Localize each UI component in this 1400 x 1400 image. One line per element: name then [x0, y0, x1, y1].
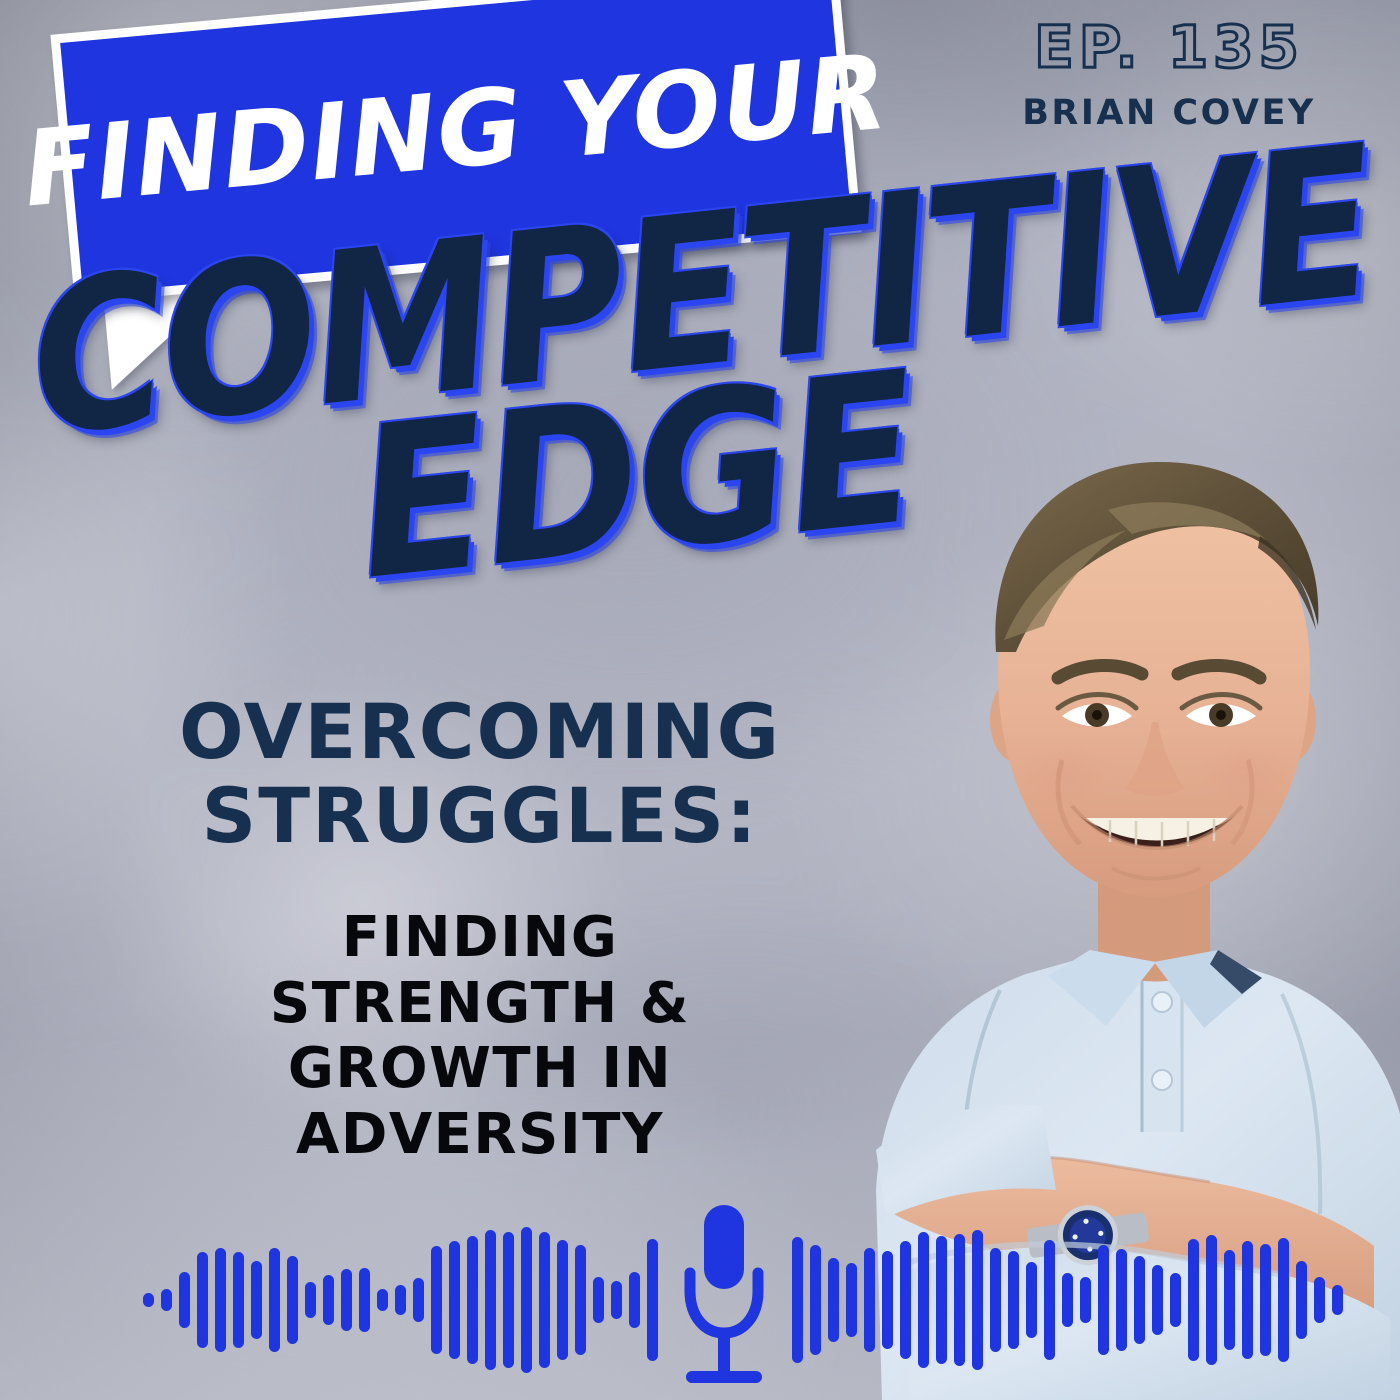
waveform-bar [395, 1285, 406, 1315]
microphone-icon [676, 1203, 772, 1389]
waveform-bar [611, 1281, 622, 1319]
waveform-bar [233, 1252, 244, 1348]
audio-waveform-right [792, 1200, 1352, 1400]
waveform-bar [341, 1269, 352, 1331]
waveform-bar [900, 1241, 911, 1359]
episode-subtitle-line1: FINDING [150, 905, 810, 971]
waveform-bar [1026, 1262, 1037, 1338]
waveform-bar [287, 1256, 298, 1344]
host-name-label: BRIAN COVEY [1004, 96, 1334, 131]
waveform-bar [1206, 1235, 1217, 1365]
waveform-bar [575, 1245, 586, 1355]
waveform-bar [647, 1239, 658, 1361]
waveform-bar [1134, 1256, 1145, 1344]
waveform-bar [449, 1241, 460, 1359]
waveform-bar [323, 1275, 334, 1325]
waveform-bar [431, 1246, 442, 1354]
waveform-bar [179, 1272, 190, 1328]
waveform-bar [629, 1272, 640, 1328]
waveform-bar [485, 1230, 496, 1370]
waveform-bar [359, 1268, 370, 1332]
waveform-bar [251, 1261, 262, 1339]
waveform-bar [161, 1289, 172, 1311]
waveform-bar [1080, 1277, 1091, 1323]
waveform-bar [1152, 1265, 1163, 1335]
waveform-bar [882, 1251, 893, 1349]
waveform-bar [557, 1240, 568, 1360]
waveform-bar [1188, 1239, 1199, 1361]
episode-subtitle-line3: GROWTH IN [150, 1036, 810, 1102]
waveform-bar [1116, 1249, 1127, 1351]
episode-number-label: EP. 135 [1004, 18, 1334, 76]
waveform-bar [1260, 1244, 1271, 1356]
waveform-bar [467, 1236, 478, 1364]
waveform-bar [377, 1289, 388, 1311]
waveform-bar [197, 1252, 208, 1348]
waveform-bar [828, 1258, 839, 1342]
waveform-bar [1044, 1240, 1055, 1360]
episode-meta: EP. 135 BRIAN COVEY [1004, 18, 1334, 131]
waveform-bar [305, 1282, 316, 1318]
waveform-bar [1224, 1250, 1235, 1350]
waveform-bar [846, 1263, 857, 1337]
waveform-bar [1278, 1238, 1289, 1362]
waveform-bar [143, 1293, 154, 1307]
waveform-bar [1098, 1245, 1109, 1355]
waveform-bar [990, 1248, 1001, 1352]
waveform-bar [1008, 1251, 1019, 1349]
episode-headline-line1: OVERCOMING [179, 687, 781, 776]
podcast-cover-art: FINDING YOUR COMPETITIVE EDGE EP. 135 BR… [0, 0, 1400, 1400]
waveform-bar [864, 1248, 875, 1352]
waveform-bar [503, 1232, 514, 1368]
episode-headline-line2: STRUGGLES: [40, 774, 920, 858]
episode-headline: OVERCOMING STRUGGLES: [40, 690, 920, 857]
waveform-bar [1170, 1273, 1181, 1327]
waveform-bar [1242, 1241, 1253, 1359]
waveform-bar [810, 1245, 821, 1355]
waveform-bar [954, 1234, 965, 1366]
episode-subtitle-line4: ADVERSITY [150, 1102, 810, 1168]
waveform-bar [918, 1232, 929, 1368]
episode-subtitle-line2: STRENGTH & [150, 971, 810, 1037]
waveform-bar [792, 1237, 803, 1363]
waveform-bar [1332, 1285, 1343, 1315]
waveform-bar [539, 1232, 550, 1368]
waveform-bar [1296, 1261, 1307, 1339]
waveform-bar [1314, 1277, 1325, 1323]
waveform-bar [936, 1236, 947, 1364]
waveform-bar [215, 1248, 226, 1352]
waveform-bar [413, 1278, 424, 1322]
waveform-bar [972, 1230, 983, 1370]
audio-waveform-left [238, 1200, 658, 1400]
episode-subtitle: FINDING STRENGTH & GROWTH IN ADVERSITY [150, 905, 810, 1167]
waveform-bar [521, 1227, 532, 1373]
waveform-bar [1062, 1273, 1073, 1327]
waveform-bar [593, 1277, 604, 1323]
waveform-bar [269, 1248, 280, 1352]
